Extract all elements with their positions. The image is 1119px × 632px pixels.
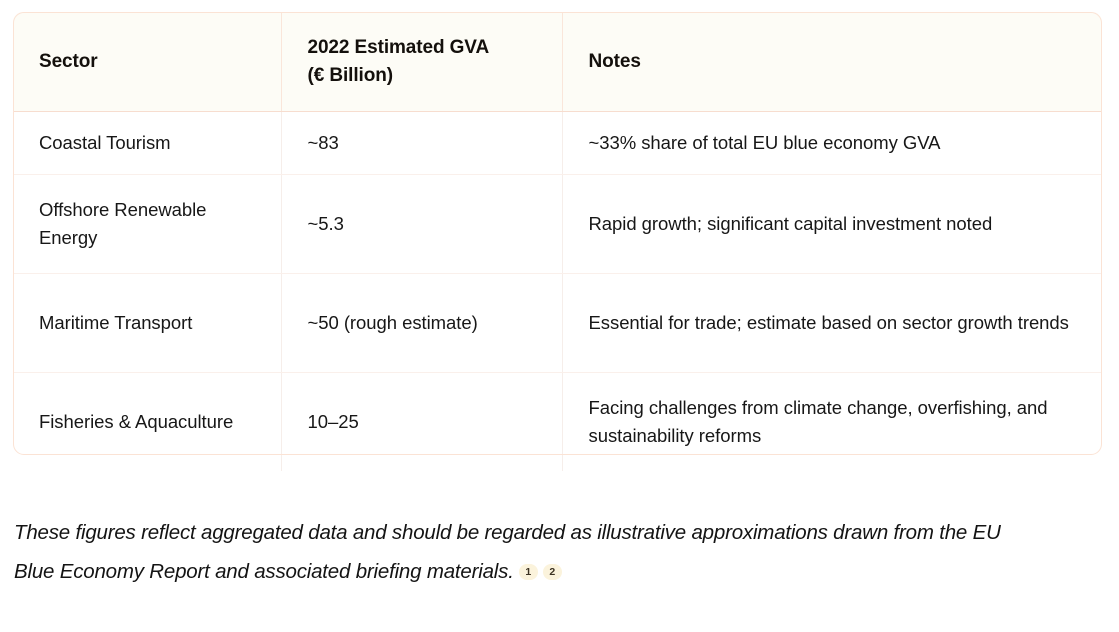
- table-caption: These figures reflect aggregated data an…: [14, 513, 1024, 591]
- column-header-gva-line1: 2022 Estimated GVA: [308, 37, 490, 58]
- cell-gva: ~83: [281, 112, 562, 175]
- table-row: Maritime Transport ~50 (rough estimate) …: [13, 273, 1102, 372]
- table-row: Offshore Renewable Energy ~5.3 Rapid gro…: [13, 174, 1102, 273]
- gva-table: Sector 2022 Estimated GVA (€ Billion) No…: [13, 12, 1102, 471]
- table-header: Sector 2022 Estimated GVA (€ Billion) No…: [13, 12, 1102, 112]
- table-body: Coastal Tourism ~83 ~33% share of total …: [13, 112, 1102, 471]
- table-row: Fisheries & Aquaculture 10–25 Facing cha…: [13, 372, 1102, 471]
- table-header-row: Sector 2022 Estimated GVA (€ Billion) No…: [13, 12, 1102, 112]
- cell-notes: Facing challenges from climate change, o…: [562, 372, 1102, 471]
- cell-notes: Rapid growth; significant capital invest…: [562, 174, 1102, 273]
- column-header-notes: Notes: [562, 12, 1102, 112]
- cell-sector: Maritime Transport: [13, 273, 281, 372]
- cell-sector: Coastal Tourism: [13, 112, 281, 175]
- cell-gva: 10–25: [281, 372, 562, 471]
- citation-badge-2[interactable]: 2: [543, 564, 562, 580]
- cell-sector: Fisheries & Aquaculture: [13, 372, 281, 471]
- cell-sector: Offshore Renewable Energy: [13, 174, 281, 273]
- cell-notes: ~33% share of total EU blue economy GVA: [562, 112, 1102, 175]
- column-header-sector: Sector: [13, 12, 281, 112]
- cell-gva: ~50 (rough estimate): [281, 273, 562, 372]
- column-header-gva-line2: (€ Billion): [308, 65, 393, 86]
- column-header-gva: 2022 Estimated GVA (€ Billion): [281, 12, 562, 112]
- caption-text: These figures reflect aggregated data an…: [14, 521, 1001, 583]
- cell-gva: ~5.3: [281, 174, 562, 273]
- cell-notes: Essential for trade; estimate based on s…: [562, 273, 1102, 372]
- gva-table-container: Sector 2022 Estimated GVA (€ Billion) No…: [13, 12, 1102, 471]
- table-row: Coastal Tourism ~83 ~33% share of total …: [13, 112, 1102, 175]
- document-page: Sector 2022 Estimated GVA (€ Billion) No…: [0, 0, 1119, 632]
- citation-badge-1[interactable]: 1: [519, 564, 538, 580]
